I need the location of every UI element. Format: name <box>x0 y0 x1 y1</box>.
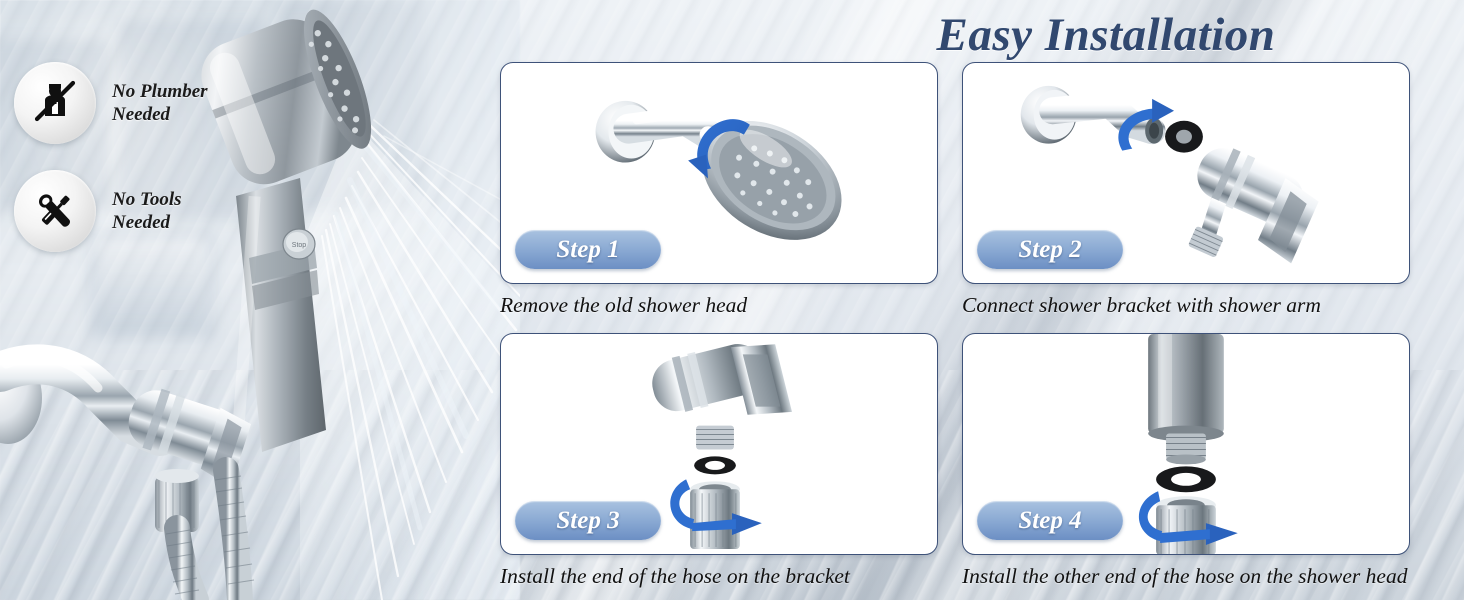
page-title: Easy Installation <box>756 8 1456 62</box>
step-badge: Step 3 <box>515 501 661 540</box>
feature-badges: No Plumber Needed <box>14 62 284 278</box>
rubber-washer <box>1165 121 1203 153</box>
steps-grid: Step 1 Remove the old shower head <box>500 62 1448 589</box>
step-badge: Step 2 <box>977 230 1123 269</box>
step-caption: Connect shower bracket with shower arm <box>962 293 1410 318</box>
feature-label: No Tools Needed <box>112 188 182 234</box>
step-panel-1: Step 1 <box>500 62 938 284</box>
no-tools-icon <box>30 186 80 236</box>
step-cell-1: Step 1 Remove the old shower head <box>500 62 938 318</box>
step-caption: Install the other end of the hose on the… <box>962 564 1410 589</box>
shower-bracket <box>1168 139 1324 284</box>
step-badge: Step 4 <box>977 501 1123 540</box>
step-panel-2: Step 2 <box>962 62 1410 284</box>
shower-head-body <box>1148 334 1224 464</box>
feature-no-tools: No Tools Needed <box>14 170 284 252</box>
step-panel-4: Step 4 <box>962 333 1410 555</box>
step-caption: Install the end of the hose on the brack… <box>500 564 938 589</box>
svg-text:Stop: Stop <box>292 242 307 249</box>
step-cell-4: Step 4 Install the other end of the hose… <box>962 333 1410 589</box>
step-badge: Step 1 <box>515 230 661 269</box>
step-cell-3: Step 3 Install the end of the hose on th… <box>500 333 938 589</box>
no-tools-badge-circle <box>14 170 96 252</box>
feature-no-plumber: No Plumber Needed <box>14 62 284 144</box>
no-plumber-icon <box>30 78 80 128</box>
water-spray <box>300 112 520 600</box>
step-cell-2: Step 2 Connect shower bracket with showe… <box>962 62 1410 318</box>
step-panel-3: Step 3 <box>500 333 938 555</box>
rubber-washer <box>1156 467 1216 493</box>
feature-label: No Plumber Needed <box>112 80 208 126</box>
shower-arm-and-bracket <box>0 352 254 600</box>
stop-button: Stop <box>283 229 315 259</box>
step-caption: Remove the old shower head <box>500 293 938 318</box>
no-plumber-badge-circle <box>14 62 96 144</box>
infographic-canvas: Stop <box>0 0 1464 600</box>
rubber-washer <box>694 457 736 475</box>
